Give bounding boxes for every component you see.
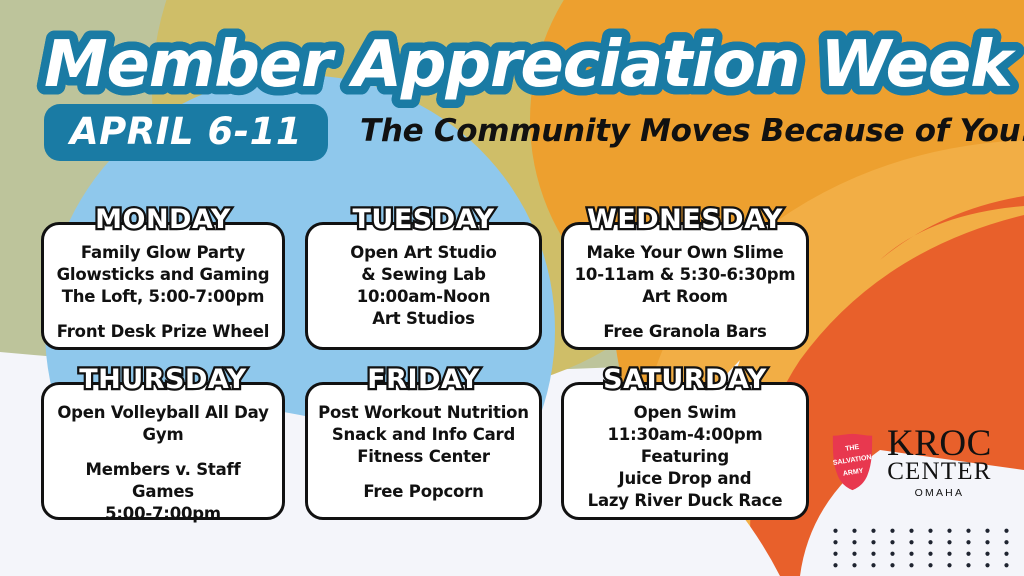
day-label: MONDAY <box>44 206 282 233</box>
day-detail-line: Family Glow Party <box>57 242 270 264</box>
page-title-fill: Member Appreciation Week <box>44 28 1016 102</box>
day-details: Open Volleyball All DayGymMembers v. Sta… <box>54 402 272 525</box>
day-detail-line: 10-11am & 5:30-6:30pm <box>575 264 796 286</box>
day-label: FRIDAY <box>308 366 539 393</box>
day-card-tuesday[interactable]: TUESDAY Open Art Studio& Sewing Lab10:00… <box>305 222 542 350</box>
day-detail-line: Fitness Center <box>318 446 529 468</box>
day-detail-line: Lazy River Duck Race <box>588 490 783 512</box>
page-title: Member Appreciation Week Member Apprecia… <box>44 26 984 104</box>
grid-dot <box>833 563 837 567</box>
day-card-wednesday[interactable]: WEDNESDAY Make Your Own Slime10-11am & 5… <box>561 222 809 350</box>
day-card-monday[interactable]: MONDAY Family Glow PartyGlowsticks and G… <box>41 222 285 350</box>
grid-dot <box>909 540 913 544</box>
day-detail-line: Post Workout Nutrition <box>318 402 529 424</box>
day-card-friday[interactable]: FRIDAY Post Workout NutritionSnack and I… <box>305 382 542 520</box>
day-details: Open Art Studio& Sewing Lab10:00am-NoonA… <box>350 242 496 330</box>
brand-center: CENTER <box>887 459 991 484</box>
grid-dot <box>890 540 894 544</box>
date-badge-label: APRIL 6-11 <box>70 110 302 153</box>
grid-dot <box>985 552 989 556</box>
grid-dot <box>985 529 989 533</box>
grid-dot <box>852 563 856 567</box>
day-detail-line: 11:30am-4:00pm <box>588 424 783 446</box>
grid-dot <box>909 529 913 533</box>
grid-dot <box>966 563 970 567</box>
day-details: Make Your Own Slime10-11am & 5:30-6:30pm… <box>575 242 796 343</box>
grid-dot <box>928 540 932 544</box>
grid-dot <box>833 552 837 556</box>
grid-dot <box>871 552 875 556</box>
grid-dot <box>1004 540 1008 544</box>
grid-dot <box>871 540 875 544</box>
day-detail-line: Juice Drop and <box>588 468 783 490</box>
kroc-center-logo: THE SALVATION ARMY KROC CENTER OMAHA <box>829 431 1004 493</box>
grid-dot <box>852 540 856 544</box>
day-detail-line: Glowsticks and Gaming <box>57 264 270 286</box>
grid-dot <box>890 552 894 556</box>
day-detail-line: Featuring <box>588 446 783 468</box>
date-badge: APRIL 6-11 <box>44 104 328 161</box>
day-detail-line: Make Your Own Slime <box>575 242 796 264</box>
tagline: The Community Moves Because of You! <box>360 116 1024 147</box>
grid-dot <box>890 529 894 533</box>
day-detail-line: Members v. Staff Games <box>54 459 272 503</box>
grid-dot <box>1004 529 1008 533</box>
grid-dot <box>928 552 932 556</box>
kroc-wordmark: KROC CENTER OMAHA <box>887 425 992 499</box>
grid-dot <box>833 540 837 544</box>
grid-dot <box>966 552 970 556</box>
day-detail-line: Free Granola Bars <box>575 321 796 343</box>
grid-dot <box>928 529 932 533</box>
day-detail-line: 5:00-7:00pm <box>54 503 272 525</box>
grid-dot <box>928 563 932 567</box>
day-label: SATURDAY <box>564 366 806 393</box>
day-detail-line: 10:00am-Noon <box>350 286 496 308</box>
day-detail-line: Open Swim <box>588 402 783 424</box>
grid-dot <box>833 529 837 533</box>
day-detail-line: Free Popcorn <box>318 481 529 503</box>
event-flyer: Member Appreciation Week Member Apprecia… <box>0 0 1024 576</box>
day-label: WEDNESDAY <box>564 206 806 233</box>
grid-dot <box>985 563 989 567</box>
grid-dot <box>852 552 856 556</box>
day-detail-line: & Sewing Lab <box>350 264 496 286</box>
grid-dot <box>909 563 913 567</box>
day-label: TUESDAY <box>308 206 539 233</box>
grid-dot <box>947 540 951 544</box>
salvation-army-shield-icon: THE SALVATION ARMY <box>829 433 876 491</box>
grid-dot <box>947 552 951 556</box>
day-details: Open Swim11:30am-4:00pmFeaturingJuice Dr… <box>588 402 783 512</box>
day-card-saturday[interactable]: SATURDAY Open Swim11:30am-4:00pmFeaturin… <box>561 382 809 520</box>
grid-dot <box>947 563 951 567</box>
day-detail-line: Art Room <box>575 286 796 308</box>
grid-dot <box>966 540 970 544</box>
day-details: Post Workout NutritionSnack and Info Car… <box>318 402 529 503</box>
day-detail-line: The Loft, 5:00-7:00pm <box>57 286 270 308</box>
grid-dot <box>947 529 951 533</box>
grid-dot <box>852 529 856 533</box>
grid-dot <box>1004 552 1008 556</box>
grid-dot <box>909 552 913 556</box>
day-details: Family Glow PartyGlowsticks and GamingTh… <box>57 242 270 343</box>
dot-grid-decoration <box>826 525 1016 571</box>
day-detail-line: Front Desk Prize Wheel <box>57 321 270 343</box>
day-card-thursday[interactable]: THURSDAY Open Volleyball All DayGymMembe… <box>41 382 285 520</box>
day-detail-line: Open Art Studio <box>350 242 496 264</box>
brand-omaha: OMAHA <box>915 488 965 499</box>
grid-dot <box>985 540 989 544</box>
grid-dot <box>966 529 970 533</box>
grid-dot <box>1004 563 1008 567</box>
day-detail-line: Snack and Info Card <box>318 424 529 446</box>
grid-dot <box>871 529 875 533</box>
brand-kroc: KROC <box>887 425 992 462</box>
day-detail-line: Art Studios <box>350 308 496 330</box>
day-detail-line: Gym <box>54 424 272 446</box>
grid-dot <box>871 563 875 567</box>
grid-dot <box>890 563 894 567</box>
day-label: THURSDAY <box>44 366 282 393</box>
day-detail-line: Open Volleyball All Day <box>54 402 272 424</box>
